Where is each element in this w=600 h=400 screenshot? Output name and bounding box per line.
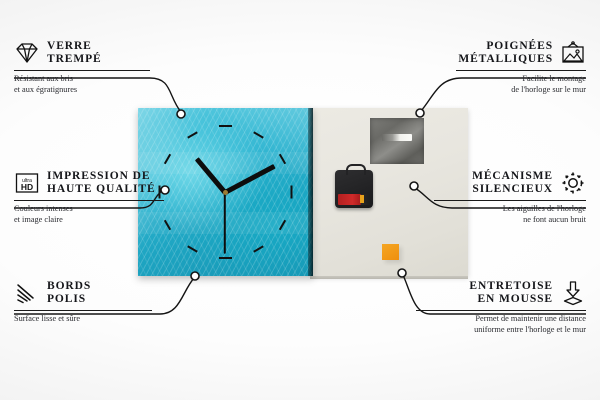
callout-entretoise-en-mousse: ENTRETOISE EN MOUSSE Permet de maintenir…	[404, 280, 586, 335]
callout-title-line1: BORDS	[47, 280, 91, 293]
callout-desc-line1: Résistant aux bris	[14, 74, 174, 85]
callout-rule	[456, 70, 586, 71]
callout-rule	[14, 200, 164, 201]
callout-impression-haute-qualite: ultra HD IMPRESSION DE HAUTE QUALITÉ Cou…	[14, 170, 184, 225]
callout-title-line2: MÉTALLIQUES	[458, 53, 553, 66]
callout-desc-line1: Facilite le montage	[426, 74, 586, 85]
callout-bords-polis: BORDS POLIS Surface lisse et sûre	[14, 280, 174, 325]
ultra-hd-icon: ultra HD	[14, 170, 40, 196]
callout-rule	[416, 310, 586, 311]
callout-title-line1: ENTRETOISE	[469, 280, 553, 293]
callout-title-line2: POLIS	[47, 293, 91, 306]
callout-rule	[434, 200, 586, 201]
callout-title-line1: MÉCANISME	[472, 170, 553, 183]
connector-dot	[416, 109, 424, 117]
picture-hanger-icon	[560, 40, 586, 66]
callout-desc-line2: de l'horloge sur le mur	[426, 85, 586, 96]
spacer-arrow-icon	[560, 280, 586, 306]
callout-desc-line2: uniforme entre l'horloge et le mur	[404, 325, 586, 336]
connector-dot	[177, 110, 185, 118]
callout-desc-line1: Surface lisse et sûre	[14, 314, 174, 325]
callout-rule	[14, 310, 152, 311]
callout-rule	[14, 70, 150, 71]
infographic-canvas: VERRE TREMPÉ Résistant aux bris et aux é…	[0, 0, 600, 400]
callout-mecanisme-silencieux: MÉCANISME SILENCIEUX Les aiguilles de l'…	[416, 170, 586, 225]
callout-title-line2: HAUTE QUALITÉ	[47, 183, 156, 196]
callout-desc-line2: et aux égratignures	[14, 85, 174, 96]
polished-edges-icon	[14, 280, 40, 306]
callout-title-line1: VERRE	[47, 40, 102, 53]
callout-title-line1: POIGNÉES	[458, 40, 553, 53]
callout-desc-line2: et image claire	[14, 215, 184, 226]
connector-dot	[191, 272, 199, 280]
callout-title-line2: EN MOUSSE	[469, 293, 553, 306]
callout-verre-trempe: VERRE TREMPÉ Résistant aux bris et aux é…	[14, 40, 174, 95]
callout-desc-line1: Couleurs intenses	[14, 204, 184, 215]
callout-title-line2: TREMPÉ	[47, 53, 102, 66]
svg-text:HD: HD	[21, 182, 33, 192]
callout-poignees-metalliques: POIGNÉES MÉTALLIQUES Facilite le montage…	[426, 40, 586, 95]
callout-desc-line1: Les aiguilles de l'horloge	[416, 204, 586, 215]
diamond-icon	[14, 40, 40, 66]
gear-icon	[560, 170, 586, 196]
callout-title-line1: IMPRESSION DE	[47, 170, 156, 183]
callout-title-line2: SILENCIEUX	[472, 183, 553, 196]
callout-desc-line1: Permet de maintenir une distance	[404, 314, 586, 325]
callout-desc-line2: ne font aucun bruit	[416, 215, 586, 226]
connector-dot	[398, 269, 406, 277]
